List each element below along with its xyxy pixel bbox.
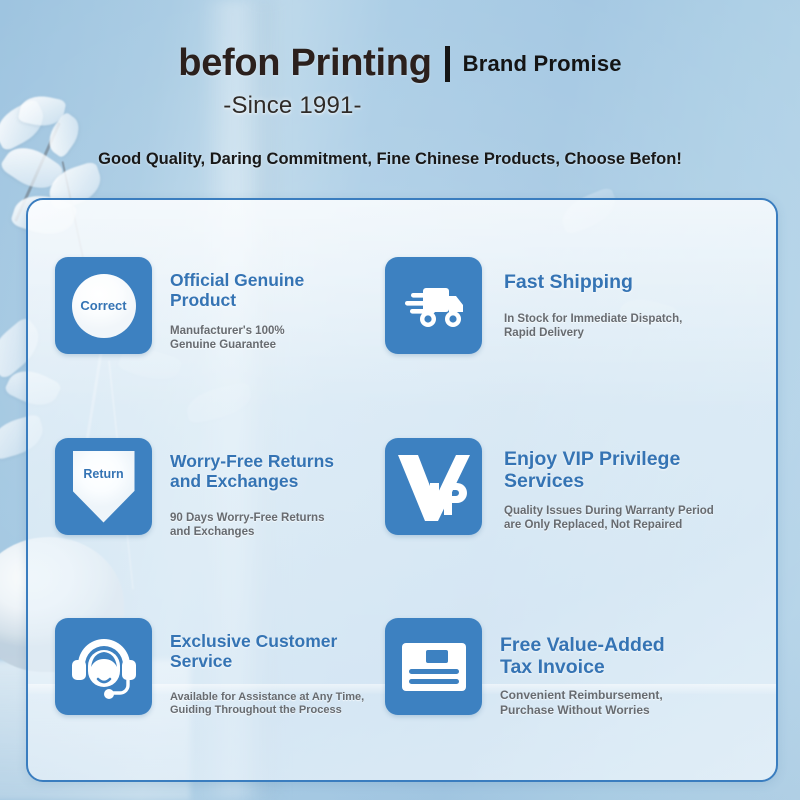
- feature-title: Free Value-Added Tax Invoice: [500, 634, 665, 678]
- feature-title: Worry-Free Returns and Exchanges: [170, 452, 334, 492]
- feature-desc: Quality Issues During Warranty Period ar…: [504, 504, 714, 533]
- headset-support-icon: [55, 618, 152, 715]
- return-shield-icon: Return: [55, 438, 152, 535]
- title-row: befon Printing Brand Promise: [0, 42, 800, 85]
- feature-title: Exclusive Customer Service: [170, 632, 364, 672]
- feature-card-tax-invoice[interactable]: Free Value-Added Tax Invoice Convenient …: [385, 618, 665, 718]
- feature-title: Enjoy VIP Privilege Services: [504, 448, 714, 492]
- feature-card-official-genuine-product[interactable]: Correct Official Genuine Product Manufac…: [55, 257, 304, 354]
- delivery-truck-icon: [385, 257, 482, 354]
- feature-title: Official Genuine Product: [170, 271, 304, 311]
- brand-title: befon Printing: [178, 42, 431, 85]
- brand-promise-label: Brand Promise: [463, 51, 622, 77]
- feature-desc: 90 Days Worry-Free Returns and Exchanges: [170, 511, 334, 540]
- feature-card-vip-privilege[interactable]: Enjoy VIP Privilege Services Quality Iss…: [385, 438, 714, 535]
- feature-card-fast-shipping[interactable]: Fast Shipping In Stock for Immediate Dis…: [385, 257, 682, 354]
- invoice-card-icon: [385, 618, 482, 715]
- features-panel: Correct Official Genuine Product Manufac…: [26, 198, 778, 782]
- feature-card-worry-free-returns[interactable]: Return Worry-Free Returns and Exchanges …: [55, 438, 334, 539]
- return-shield-icon-label: Return: [83, 467, 123, 481]
- feature-title: Fast Shipping: [504, 271, 682, 293]
- feature-card-customer-service[interactable]: Exclusive Customer Service Available for…: [55, 618, 364, 718]
- slogan-text: Good Quality, Daring Commitment, Fine Ch…: [0, 150, 780, 169]
- feature-desc: Convenient Reimbursement, Purchase Witho…: [500, 688, 665, 718]
- since-subtitle: -Since 1991-: [0, 92, 585, 120]
- header: befon Printing Brand Promise -Since 1991…: [0, 0, 800, 200]
- feature-desc: In Stock for Immediate Dispatch, Rapid D…: [504, 312, 682, 341]
- promo-banner: befon Printing Brand Promise -Since 1991…: [0, 0, 800, 800]
- correct-badge-icon-label: Correct: [80, 298, 126, 313]
- features-grid: Correct Official Genuine Product Manufac…: [28, 200, 776, 780]
- vip-badge-icon: [385, 438, 482, 535]
- title-divider: [445, 46, 450, 82]
- feature-desc: Available for Assistance at Any Time, Gu…: [170, 691, 364, 719]
- correct-badge-icon: Correct: [55, 257, 152, 354]
- feature-desc: Manufacturer's 100% Genuine Guarantee: [170, 324, 304, 353]
